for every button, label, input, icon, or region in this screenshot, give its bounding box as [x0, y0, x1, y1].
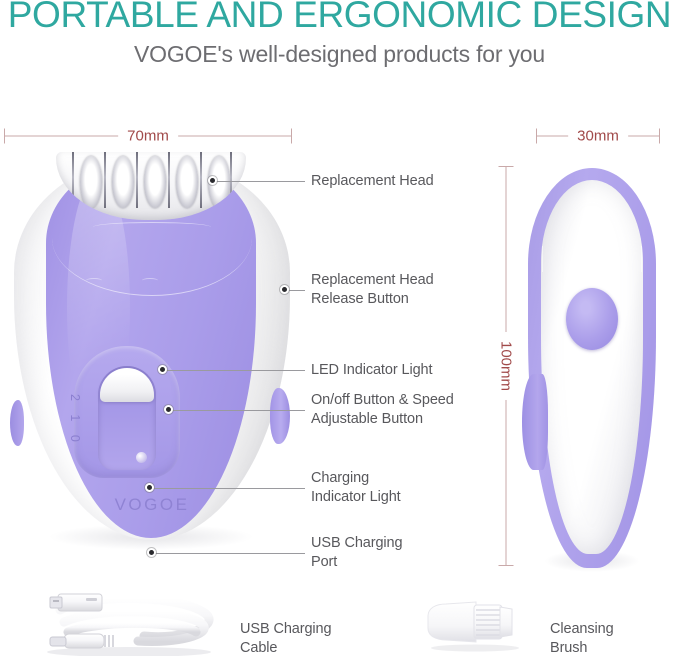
brand-logo-text: VOGOE [115, 495, 190, 515]
head-vent-mark [142, 278, 158, 283]
page-subtitle: VOGOE's well-designed products for you [0, 41, 679, 68]
callout-marker-dot [145, 483, 154, 492]
side-release-tab[interactable] [522, 374, 548, 470]
callout-label: Charging Indicator Light [311, 469, 401, 506]
callout-marker-dot [280, 285, 289, 294]
callout-label-line1: USB Charging [311, 534, 403, 553]
accessory-label-line2: Brush [550, 639, 614, 658]
tweezer-blade [72, 152, 74, 208]
dimension-height: 100mm [496, 166, 516, 566]
page-title: PORTABLE AND ERGONOMIC DESIGN [0, 0, 679, 36]
callout-leader-line [150, 488, 305, 489]
power-switch-track [98, 366, 156, 470]
callout-leader-line [213, 181, 305, 182]
tweezer-disc [112, 156, 134, 208]
tweezer-disc [80, 156, 102, 208]
callout-label-line2: Release Button [311, 290, 434, 309]
callout-label-line2: Port [311, 553, 403, 572]
callout-leader-line [163, 370, 305, 371]
tweezer-disc [144, 156, 166, 208]
side-seam-left [542, 246, 543, 272]
tweezer-disc [176, 156, 198, 208]
accessory-label-line2: Cable [240, 639, 332, 658]
callout-label-line1: Charging [311, 469, 401, 488]
callout-label-line2: Indicator Light [311, 488, 401, 507]
usb-charging-cable-image [34, 586, 224, 656]
head-seam [93, 222, 211, 232]
callout-label: LED Indicator Light [311, 361, 432, 380]
side-seam-right [641, 246, 642, 272]
dimension-width-front: 70mm [4, 126, 292, 146]
onoff-speed-switch-knob[interactable] [100, 368, 154, 402]
dimension-height-label: 100mm [498, 332, 515, 400]
tweezer-blade [104, 152, 106, 208]
dimension-width-front-label: 70mm [118, 128, 178, 145]
callout-label-line1: Replacement Head [311, 172, 434, 191]
dimension-tick-top [499, 166, 514, 167]
callout-label-line1: On/off Button & Speed [311, 391, 454, 410]
dimension-tick-left [536, 129, 537, 144]
dimension-tick-left [4, 129, 5, 144]
side-onoff-button[interactable] [566, 288, 618, 350]
dimension-tick-bottom [499, 565, 514, 566]
callout-label: USB Charging Port [311, 534, 403, 571]
callout-marker-dot [208, 176, 217, 185]
dimension-width-side: 30mm [536, 126, 660, 146]
accessory-label-line1: Cleansing [550, 620, 614, 639]
callout-marker-dot [147, 548, 156, 557]
tweezer-blade [200, 152, 202, 208]
callout-marker-dot [164, 405, 173, 414]
dimension-tick-right [659, 129, 660, 144]
speed-scale-labels: 2 1 0 [68, 394, 82, 447]
side-body-purple-shell [528, 168, 656, 568]
epilator-side-view [528, 168, 656, 568]
replacement-head-release-button[interactable] [270, 388, 290, 444]
callout-label: Replacement Head Release Button [311, 271, 434, 308]
callout-label-line1: Replacement Head [311, 271, 434, 290]
callout-leader-line [152, 553, 305, 554]
head-vent-mark [86, 278, 102, 283]
infographic-canvas: PORTABLE AND ERGONOMIC DESIGN VOGOE's we… [0, 0, 679, 671]
callout-label: Replacement Head [311, 172, 434, 191]
dimension-tick-right [291, 129, 292, 144]
accessory-label-cleansing-brush: Cleansing Brush [550, 620, 614, 657]
callout-label-line2: Adjustable Button [311, 410, 454, 429]
accessory-label-usb-cable: USB Charging Cable [240, 620, 332, 657]
accessory-label-line1: USB Charging [240, 620, 332, 639]
callout-marker-dot [158, 365, 167, 374]
replacement-head-release-button-left[interactable] [10, 400, 24, 446]
cleansing-brush-image [420, 594, 530, 652]
callout-leader-line [169, 410, 305, 411]
tweezer-blade [136, 152, 138, 208]
side-body-white-panel [541, 180, 643, 554]
tweezer-blade [230, 152, 232, 208]
tweezer-blade [168, 152, 170, 208]
charging-indicator-led [136, 452, 147, 463]
callout-label: On/off Button & Speed Adjustable Button [311, 391, 454, 428]
dimension-width-side-label: 30mm [568, 128, 628, 145]
callout-label-line1: LED Indicator Light [311, 361, 432, 380]
